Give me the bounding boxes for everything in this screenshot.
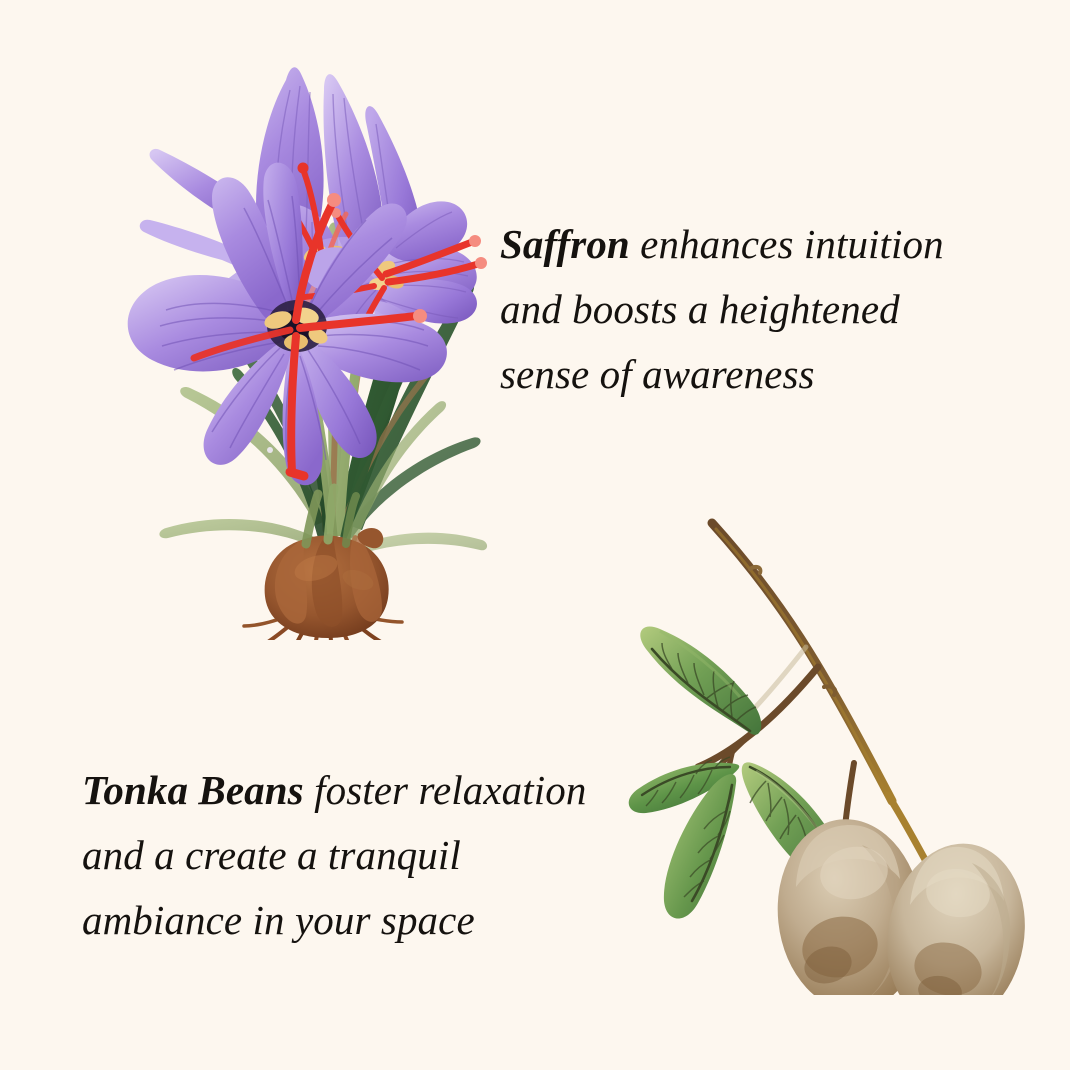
saffron-caption-line-1: Saffron enhances intuition (500, 212, 1000, 277)
saffron-caption-lead: Saffron (500, 221, 630, 267)
illustration-canvas: Saffron enhances intuition and boosts a … (0, 0, 1070, 1070)
tonka-twig (698, 523, 892, 803)
tonka-caption-lead: Tonka Beans (82, 767, 304, 813)
saffron-caption: Saffron enhances intuition and boosts a … (500, 212, 1000, 407)
tonka-caption-line-3: ambiance in your space (82, 888, 612, 953)
tonka-caption: Tonka Beans foster relaxation and a crea… (82, 758, 612, 953)
tonka-caption-line-1: Tonka Beans foster relaxation (82, 758, 612, 823)
saffron-caption-line-2: and boosts a heightened (500, 277, 1000, 342)
tonka-bean-branch-illustration (600, 495, 1030, 995)
tonka-caption-line-2: and a create a tranquil (82, 823, 612, 888)
saffron-caption-line-3: sense of awareness (500, 342, 1000, 407)
saffron-caption-line-1-rest: enhances intuition (630, 221, 944, 267)
tonka-caption-line-1-rest: foster relaxation (304, 767, 587, 813)
tonka-leaf-upper-left (640, 626, 761, 734)
saffron-crocus-plant-illustration (90, 20, 490, 640)
